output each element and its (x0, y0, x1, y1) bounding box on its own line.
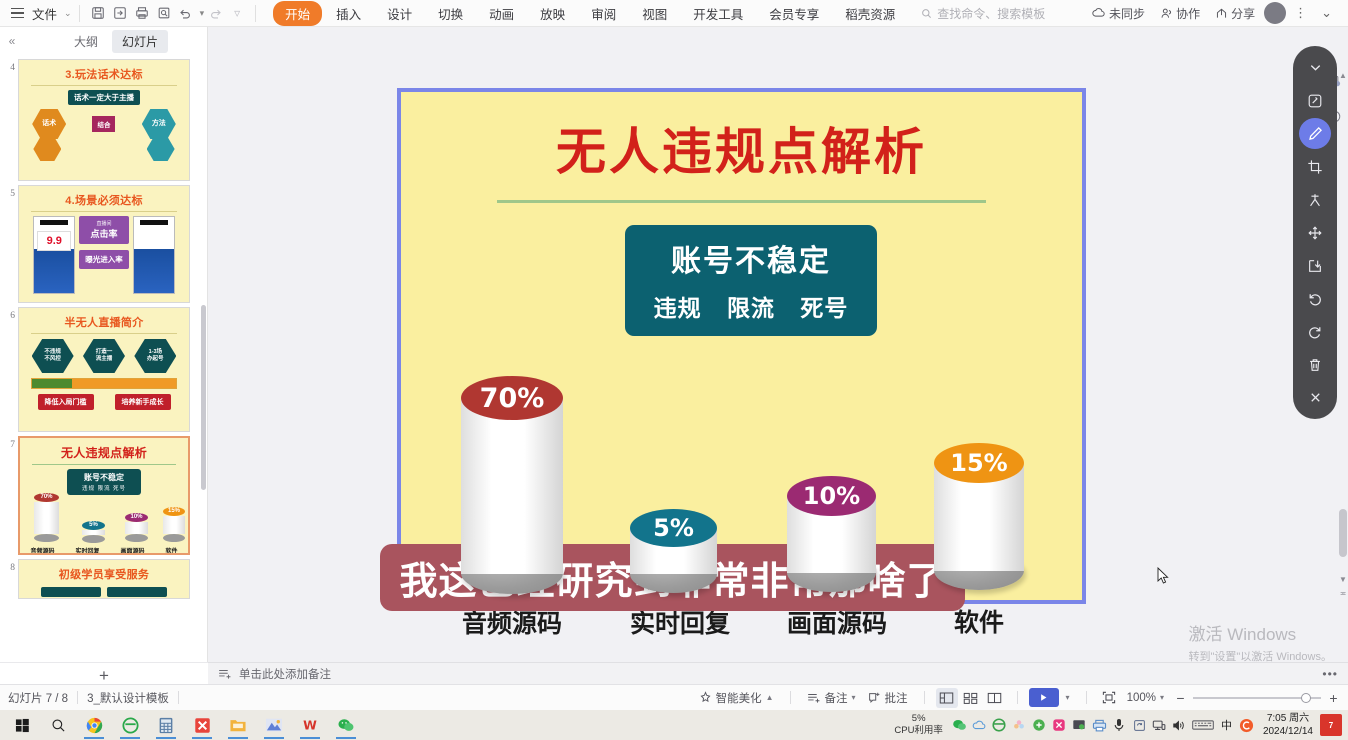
divider (1086, 691, 1087, 704)
arrow-pill: 结合 (92, 116, 115, 132)
thumb-hex-row: 话术 结合 方法 (19, 109, 189, 139)
mini-chart-labels: 音频源码 实时回复 画面源码 软件 (20, 546, 188, 555)
btn-1: 降低入局门槛 (38, 394, 94, 410)
chrome-taskbar-icon[interactable] (76, 710, 112, 740)
mini-cat-label: 实时回复 (75, 546, 99, 555)
divider (79, 5, 80, 22)
collaborate-button[interactable]: 协作 (1154, 3, 1206, 24)
thumb-buttons: 降低入局门槛 培养新手成长 (19, 394, 189, 416)
divider (924, 691, 925, 704)
tab-animation[interactable]: 动画 (477, 1, 526, 26)
beautify-label: 智能美化 (716, 690, 762, 706)
panel-tabs: 大纲 幻灯片 (64, 30, 168, 53)
magic-wand-icon (699, 691, 712, 704)
dark-box-sub: 违规 限流 死号 (75, 484, 133, 492)
tab-slideshow[interactable]: 放映 (528, 1, 577, 26)
xmind-taskbar-icon[interactable] (184, 710, 220, 740)
ribbon-bar: 文件 ⌄ ▾ ▿ (0, 0, 1348, 27)
collapse-panel-icon[interactable]: « (0, 34, 24, 48)
pen-icon[interactable] (1299, 118, 1331, 149)
notes-more-icon[interactable]: ••• (1322, 667, 1338, 681)
mini-bar-label: 70% (34, 493, 59, 502)
windows-icon (15, 718, 30, 733)
avatar[interactable] (1264, 2, 1286, 24)
slide-counter: 幻灯片 7 / 8 (8, 690, 68, 706)
zoom-in-button[interactable]: + (1327, 690, 1340, 706)
collapse-ribbon-icon[interactable]: ⌄ (1316, 3, 1338, 23)
mini-cat-label: 软件 (165, 546, 177, 555)
status-bar-right: 智能美化 ▲ 备注 ▾ 批注 (694, 688, 1340, 708)
chevron-down-icon[interactable]: ⌄ (64, 8, 72, 19)
chevron-up-icon[interactable]: ▲ (766, 693, 774, 702)
tab-review[interactable]: 审阅 (579, 1, 628, 26)
tray-sogou-icon[interactable] (1237, 716, 1256, 735)
hex-1: 不违规不风控 (32, 339, 74, 373)
split-bar (31, 378, 177, 389)
hex-right-sub (147, 137, 175, 161)
tray-green-circle-icon[interactable] (1030, 716, 1049, 735)
divider (255, 5, 256, 22)
status-bar: 幻灯片 7 / 8 3_默认设计模板 智能美化 ▲ 备注 ▾ 批注 (0, 684, 1348, 710)
photos-icon (265, 717, 283, 733)
slide-number: 5 (4, 185, 18, 199)
add-slide-button[interactable]: + (0, 662, 208, 684)
wps-presentation-window: 文件 ⌄ ▾ ▿ (0, 0, 1348, 740)
slide-title[interactable]: 无人违规点解析 (401, 92, 1082, 184)
smart-beautify-button[interactable]: 智能美化 ▲ (694, 688, 779, 708)
tray-keyboard-icon[interactable] (1190, 716, 1216, 735)
zoom-level-label: 100% (1127, 692, 1156, 704)
save-icon[interactable] (87, 2, 109, 24)
mini-bar-2: 5% (82, 521, 105, 541)
redo-icon[interactable] (1299, 316, 1331, 347)
zoom-out-button[interactable]: − (1174, 690, 1187, 706)
search-input[interactable]: 查找命令、搜索模板 (921, 5, 1045, 22)
redo-icon[interactable] (204, 2, 226, 24)
print-icon[interactable] (131, 2, 153, 24)
dark-box-title: 账号不稳定 (75, 472, 133, 483)
tab-design[interactable]: 设计 (375, 1, 424, 26)
mouse-cursor-icon (1157, 567, 1169, 584)
divider (790, 691, 791, 704)
hex-right: 方法 (142, 109, 176, 139)
search-placeholder: 查找命令、搜索模板 (937, 5, 1045, 22)
mini-bar-3: 10% (125, 513, 148, 541)
clock-time: 7:05 周六 (1263, 712, 1313, 725)
search-icon (51, 718, 66, 733)
slide-thumb-6[interactable]: 半无人直播简介 不违规不风控 打造一流主播 1-3场办起号 降低入局门槛 培养新… (18, 307, 190, 432)
thumb-title: 半无人直播简介 (19, 308, 189, 330)
notification-badge[interactable]: 7 (1320, 714, 1342, 736)
tab-member[interactable]: 会员专享 (757, 1, 831, 26)
calculator-icon (158, 717, 174, 734)
watermark-line1: 激活 Windows (1189, 620, 1333, 645)
lasso-icon[interactable] (1299, 184, 1331, 215)
slide-sorter-icon[interactable] (960, 688, 982, 708)
zoom-track[interactable] (1193, 697, 1321, 699)
divider (31, 333, 177, 334)
chevron-down-icon[interactable]: ▾ (852, 693, 856, 702)
comment-label: 批注 (885, 690, 908, 706)
tab-transition[interactable]: 切换 (426, 1, 475, 26)
zoom-slider[interactable]: − + (1174, 690, 1340, 706)
ink-floating-toolbar[interactable] (1293, 46, 1337, 419)
explorer-taskbar-icon[interactable] (220, 710, 256, 740)
slide-thumbnail-panel: « 大纲 幻灯片 4 3.玩法话术达标 话术一定大于主播 话术 结合 (0, 27, 208, 684)
wechat-icon (337, 717, 355, 733)
edge-taskbar-icon[interactable] (112, 710, 148, 740)
slide-number: 7 (4, 436, 18, 450)
sync-status-button[interactable]: 未同步 (1086, 3, 1151, 24)
tab-view[interactable]: 视图 (630, 1, 679, 26)
thumb-purple-boxes: 直播间 点击率 曝光进入率 (79, 216, 129, 269)
thumb-title: 无人违规点解析 (20, 438, 188, 461)
thumb-bars (19, 587, 189, 597)
move-icon[interactable] (1299, 217, 1331, 248)
cloud-sync-icon (1092, 7, 1106, 19)
cpu-value: 5% (894, 713, 943, 725)
box-label: 点击率 (90, 229, 117, 239)
ime-indicator[interactable]: 中 (1217, 716, 1236, 735)
thumbnail-item-selected[interactable]: 7 无人违规点解析 账号不稳定 违规 限流 死号 70% 5% (0, 432, 207, 555)
xmind-icon (194, 717, 211, 734)
tray-pink-icon[interactable] (1050, 716, 1069, 735)
hex-2: 打造一流主播 (83, 339, 125, 373)
thumbnail-list[interactable]: 4 3.玩法话术达标 话术一定大于主播 话术 结合 方法 (0, 55, 207, 684)
thumbnail-item[interactable]: 5 4.场景必须达标 9.9 直播间 点击率 曝光进入率 (0, 181, 207, 303)
slideshow-dropdown-icon[interactable]: ▾ (1061, 693, 1075, 702)
comment-icon (868, 691, 881, 704)
title-underline (497, 200, 986, 203)
zoom-level[interactable]: 100% ▾ (1122, 690, 1169, 706)
divider (32, 464, 176, 465)
notes-toggle-button[interactable]: 备注 ▾ (802, 688, 861, 708)
ribbon-right-actions: 未同步 协作 分享 ⋮ ⌄ (1086, 2, 1342, 24)
wps-icon: W (301, 717, 319, 733)
divider (31, 211, 177, 212)
exposure-box: 曝光进入率 (79, 250, 129, 269)
chart-bar-4-value: 15% (934, 443, 1024, 483)
undo-icon[interactable] (175, 2, 197, 24)
slide-thumb-5[interactable]: 4.场景必须达标 9.9 直播间 点击率 曝光进入率 (18, 185, 190, 303)
search-button[interactable] (40, 710, 76, 740)
mini-bar-label: 10% (125, 513, 148, 522)
chart-bar-2-value: 5% (630, 509, 717, 547)
clock-date: 2024/12/14 (1263, 725, 1313, 738)
thumb-title: 初级学员享受服务 (19, 560, 189, 582)
dark-box-headline: 账号不稳定 (625, 236, 877, 280)
slide-number: 4 (4, 59, 18, 73)
canvas-vertical-scrollbar[interactable]: ▲ ▼ ≖ (1339, 79, 1347, 640)
notes-label: 备注 (825, 690, 848, 706)
tab-outline[interactable]: 大纲 (64, 30, 108, 53)
mini-bar-label: 15% (163, 507, 185, 516)
panel-header: « 大纲 幻灯片 (0, 27, 207, 55)
slide-thumb-4[interactable]: 3.玩法话术达标 话术一定大于主播 话术 结合 方法 (18, 59, 190, 181)
tray-network-icon[interactable] (1150, 716, 1169, 735)
tab-slides[interactable]: 幻灯片 (112, 30, 168, 53)
start-slideshow-button[interactable] (1029, 688, 1059, 707)
hex-left-sub (33, 137, 61, 161)
fit-to-window-icon[interactable] (1098, 688, 1120, 708)
zoom-knob[interactable] (1301, 693, 1311, 703)
tray-volume-icon[interactable] (1170, 716, 1189, 735)
share-button[interactable]: 分享 (1209, 3, 1261, 24)
notes-icon (218, 668, 232, 680)
search-icon (921, 8, 932, 19)
mini-cat-label: 画面源码 (120, 546, 144, 555)
mini-bar-label: 5% (82, 521, 105, 530)
thumb-hex-row: 不违规不风控 打造一流主播 1-3场办起号 (19, 339, 189, 373)
edge-icon (122, 717, 139, 734)
chrome-icon (86, 717, 103, 734)
collaborate-icon (1160, 7, 1173, 20)
divider (77, 691, 78, 704)
scrollbar-thumb[interactable] (1339, 509, 1347, 557)
thumb-chart: 70% 5% 10% 15% 音频源码 (20, 497, 188, 555)
trash-icon[interactable] (1299, 349, 1331, 380)
slide-number: 8 (4, 559, 18, 573)
tray-flower-icon[interactable] (1010, 716, 1029, 735)
scroll-page-icon[interactable]: ≖ (1339, 589, 1347, 598)
reading-view-icon[interactable] (984, 688, 1006, 708)
slide-number: 6 (4, 307, 18, 321)
chevron-down-icon[interactable]: ▾ (1160, 693, 1164, 702)
thumb-dark-box: 账号不稳定 违规 限流 死号 (67, 469, 141, 495)
thumb-pill: 话术一定大于主播 (68, 90, 140, 105)
save-as-icon[interactable] (109, 2, 131, 24)
box-small-label: 直播间 (85, 220, 123, 227)
tab-docer[interactable]: 稻壳资源 (833, 1, 907, 26)
ime-label: 中 (1221, 717, 1232, 733)
thumbnail-item[interactable]: 6 半无人直播简介 不违规不风控 打造一流主播 1-3场办起号 降低入局门槛 培… (0, 303, 207, 432)
windows-taskbar: W 5% CPU利用率 (0, 710, 1348, 740)
share-icon (1215, 7, 1228, 20)
ribbon-tabs: 开始 插入 设计 切换 动画 放映 审阅 视图 开发工具 会员专享 稻壳资源 (273, 1, 907, 26)
btn-2: 培养新手成长 (115, 394, 171, 410)
tray-wechat-icon[interactable] (950, 716, 969, 735)
print-preview-icon[interactable] (153, 2, 175, 24)
slide-canvas-area: 无人违规点解析 账号不稳定 违规 限流 死号 70% 音频源码 (208, 27, 1348, 684)
notes-placeholder: 单击此处添加备注 (239, 666, 331, 682)
sync-status-label: 未同步 (1109, 5, 1145, 22)
cpu-label: CPU利用率 (894, 725, 943, 737)
chevron-down-icon[interactable] (1299, 52, 1331, 83)
tray-cloud-icon[interactable] (970, 716, 989, 735)
slide-thumb-7[interactable]: 无人违规点解析 账号不稳定 违规 限流 死号 70% 5% (18, 436, 190, 555)
divider (1017, 691, 1018, 704)
photos-taskbar-icon[interactable] (256, 710, 292, 740)
scroll-down-icon[interactable]: ▼ (1339, 575, 1347, 584)
normal-view-icon[interactable] (936, 688, 958, 708)
windows-activation-watermark: 激活 Windows 转到"设置"以激活 Windows。 (1189, 620, 1333, 664)
customize-qat-icon[interactable]: ▿ (226, 2, 248, 24)
download-icon[interactable] (1299, 250, 1331, 281)
tab-developer[interactable]: 开发工具 (681, 1, 755, 26)
phone-mock-left: 9.9 (33, 216, 75, 294)
tray-sync-icon[interactable] (1130, 716, 1149, 735)
notes-bar[interactable]: 单击此处添加备注 ••• (208, 662, 1348, 684)
system-tray: 5% CPU利用率 (894, 712, 1344, 738)
click-rate-box: 直播间 点击率 (79, 216, 129, 244)
clock[interactable]: 7:05 周六 2024/12/14 (1263, 712, 1313, 738)
close-icon[interactable] (1299, 382, 1331, 413)
slide-thumb-8[interactable]: 初级学员享受服务 (18, 559, 190, 599)
template-name[interactable]: 3_默认设计模板 (87, 690, 169, 706)
menu-hamburger-icon[interactable] (6, 2, 28, 24)
undo-icon[interactable] (1299, 283, 1331, 314)
thumb-title: 3.玩法话术达标 (19, 60, 189, 82)
mini-bar-1: 70% (34, 493, 59, 541)
comment-button[interactable]: 批注 (863, 688, 913, 708)
thumb-title: 4.场景必须达标 (19, 186, 189, 208)
thumbnail-scrollbar[interactable] (201, 305, 206, 490)
collaborate-label: 协作 (1176, 5, 1200, 22)
mini-cat-label: 音频源码 (30, 546, 54, 555)
cpu-usage-indicator[interactable]: 5% CPU利用率 (894, 713, 943, 737)
chart-bar-3-value: 10% (787, 476, 876, 516)
hex-3: 1-3场办起号 (134, 339, 176, 373)
thumb-body: 9.9 直播间 点击率 曝光进入率 (19, 216, 189, 294)
notes-icon (807, 692, 821, 704)
tray-screen-icon[interactable] (1070, 716, 1089, 735)
highlight-pen-icon[interactable] (1299, 85, 1331, 116)
file-menu-button[interactable]: 文件 (28, 4, 61, 23)
share-label: 分享 (1231, 5, 1255, 22)
tray-microphone-icon[interactable] (1110, 716, 1129, 735)
tab-insert[interactable]: 插入 (324, 1, 373, 26)
mini-bar-4: 15% (163, 507, 185, 541)
wps-taskbar-icon[interactable]: W (292, 710, 328, 740)
start-button[interactable] (4, 710, 40, 740)
thumbnail-item[interactable]: 8 初级学员享受服务 (0, 555, 207, 599)
price-label: 9.9 (37, 231, 71, 251)
phone-mock-right (133, 216, 175, 294)
divider (178, 691, 179, 704)
svg-text:W: W (303, 717, 317, 732)
folder-icon (229, 717, 247, 733)
tab-start[interactable]: 开始 (273, 1, 322, 26)
thumbnail-item[interactable]: 4 3.玩法话术达标 话术一定大于主播 话术 结合 方法 (0, 55, 207, 181)
crop-icon[interactable] (1299, 151, 1331, 182)
chart-bar-1-value: 70% (461, 376, 563, 420)
thumb-hex-row-2 (19, 137, 189, 161)
tray-browser-icon[interactable] (990, 716, 1009, 735)
tray-printer-icon[interactable] (1090, 716, 1109, 735)
calculator-taskbar-icon[interactable] (148, 710, 184, 740)
more-options-icon[interactable]: ⋮ (1289, 3, 1313, 23)
current-slide[interactable]: 无人违规点解析 账号不稳定 违规 限流 死号 70% 音频源码 (397, 88, 1086, 604)
play-icon (1038, 692, 1049, 703)
wechat-taskbar-icon[interactable] (328, 710, 364, 740)
hex-left: 话术 (32, 109, 66, 139)
